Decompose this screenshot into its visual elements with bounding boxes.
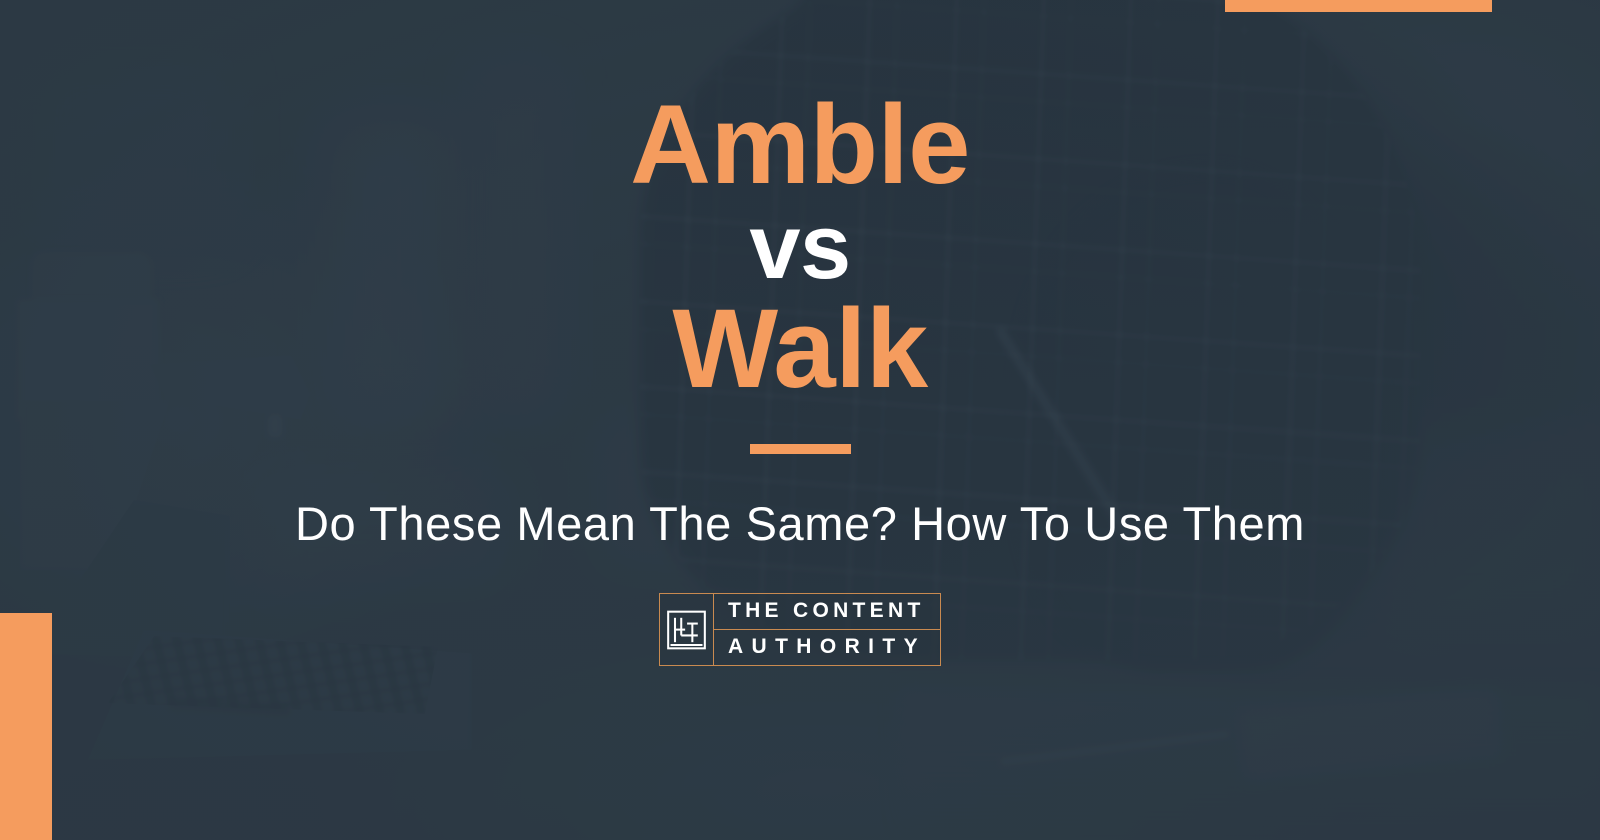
brand-logo-wordmark: THE CONTENT AUTHORITY bbox=[714, 594, 940, 665]
hero-banner: Amble vs Walk Do These Mean The Same? Ho… bbox=[0, 0, 1600, 840]
title-line-first: Amble bbox=[630, 92, 970, 198]
hero-content: Amble vs Walk Do These Mean The Same? Ho… bbox=[0, 0, 1600, 840]
content-authority-maze-mark-icon bbox=[660, 594, 714, 665]
title-divider bbox=[750, 444, 851, 454]
title-line-versus: vs bbox=[630, 204, 970, 291]
page-title: Amble vs Walk bbox=[630, 92, 970, 402]
brand-logo-line-1: THE CONTENT bbox=[714, 594, 940, 630]
page-subtitle: Do These Mean The Same? How To Use Them bbox=[295, 496, 1305, 551]
title-line-second: Walk bbox=[630, 296, 970, 402]
brand-logo[interactable]: THE CONTENT AUTHORITY bbox=[659, 593, 941, 666]
brand-logo-line-2: AUTHORITY bbox=[714, 630, 940, 665]
